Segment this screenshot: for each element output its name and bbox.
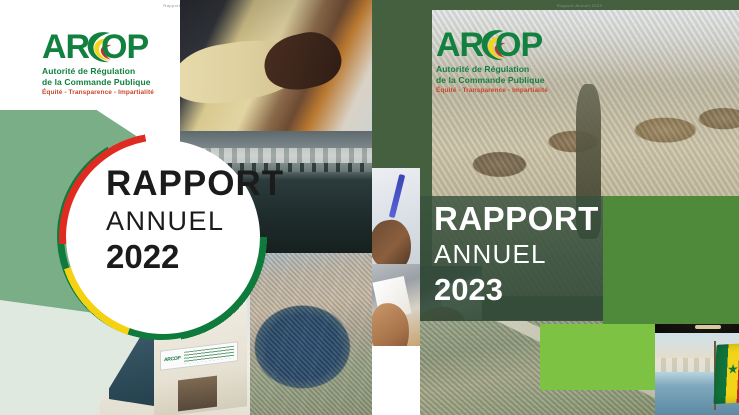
logo-letters-op-2023: OP: [495, 28, 542, 62]
middle-green-strip: [372, 0, 420, 415]
logo-tagline: Autorité de Régulation de la Commande Pu…: [42, 66, 154, 97]
photo-senegal-flag-sea: ★: [655, 333, 739, 415]
logo-tagline-2023-line3: Équité - Transparence - Impartialité: [436, 86, 548, 95]
logo-tagline-2023: Autorité de Régulation de la Commande Pu…: [436, 64, 548, 95]
green-block-large: [603, 196, 739, 324]
logo-tagline-line3: Équité - Transparence - Impartialité: [42, 88, 154, 97]
cover-2022-title-year: 2022: [106, 238, 284, 276]
cover-2022-title: RAPPORT ANNUEL 2022: [106, 164, 284, 276]
photo-market-produce-hands: [180, 0, 372, 131]
logo-tagline-2023-line1: Autorité de Régulation: [436, 64, 548, 75]
logo-tagline-line1: Autorité de Régulation: [42, 66, 154, 77]
green-block-bright: [540, 324, 655, 390]
senegal-flag: ★: [714, 343, 739, 404]
arcop-wordmark: AR OP: [42, 30, 154, 66]
strip-white-gap: [372, 346, 420, 415]
building-sign-logo: ARCOP: [164, 356, 181, 364]
logo-tagline-2023-line2: de la Commande Publique: [436, 75, 548, 86]
scales-base: [695, 325, 721, 328]
logo-letters-op: OP: [101, 30, 148, 64]
annual-report-cover-2022: Rapport Annuel 2022 ARCOP RAPPORT ANNUEL…: [0, 0, 372, 415]
building-sign: ARCOP: [160, 342, 238, 372]
arcop-logo: AR OP Autorité de Régulation de la Comma…: [42, 30, 154, 97]
cover-2023-title-year: 2023: [434, 271, 599, 308]
photo-hand-envelope: [372, 264, 420, 346]
building-sign-text-lines: [184, 346, 234, 363]
arcop-wordmark-2023: AR OP: [436, 28, 548, 64]
cover-2023-header-strip: Rapport Annuel 2023: [420, 0, 739, 10]
building-entrance: [178, 375, 217, 411]
cover-2022-title-line1: RAPPORT: [106, 164, 284, 204]
flag-star-icon: ★: [727, 362, 739, 376]
report-covers-image: Rapport Annuel 2022 ARCOP RAPPORT ANNUEL…: [0, 0, 739, 415]
photo-aerial-city-lagoon: [243, 253, 372, 415]
logo-tagline-line2: de la Commande Publique: [42, 77, 154, 88]
cover-2022-title-line2: ANNUEL: [106, 204, 284, 238]
arcop-logo-2023: AR OP Autorité de Régulation de la Comma…: [436, 28, 548, 95]
cover-2023-title-line2: ANNUEL: [434, 238, 599, 271]
cover-2023-title-line1: RAPPORT: [434, 200, 599, 238]
annual-report-cover-2023: Rapport Annuel 2023 ★: [420, 0, 739, 415]
cover-2023-title: RAPPORT ANNUEL 2023: [434, 200, 599, 308]
photo-pen-signing: [372, 168, 420, 264]
